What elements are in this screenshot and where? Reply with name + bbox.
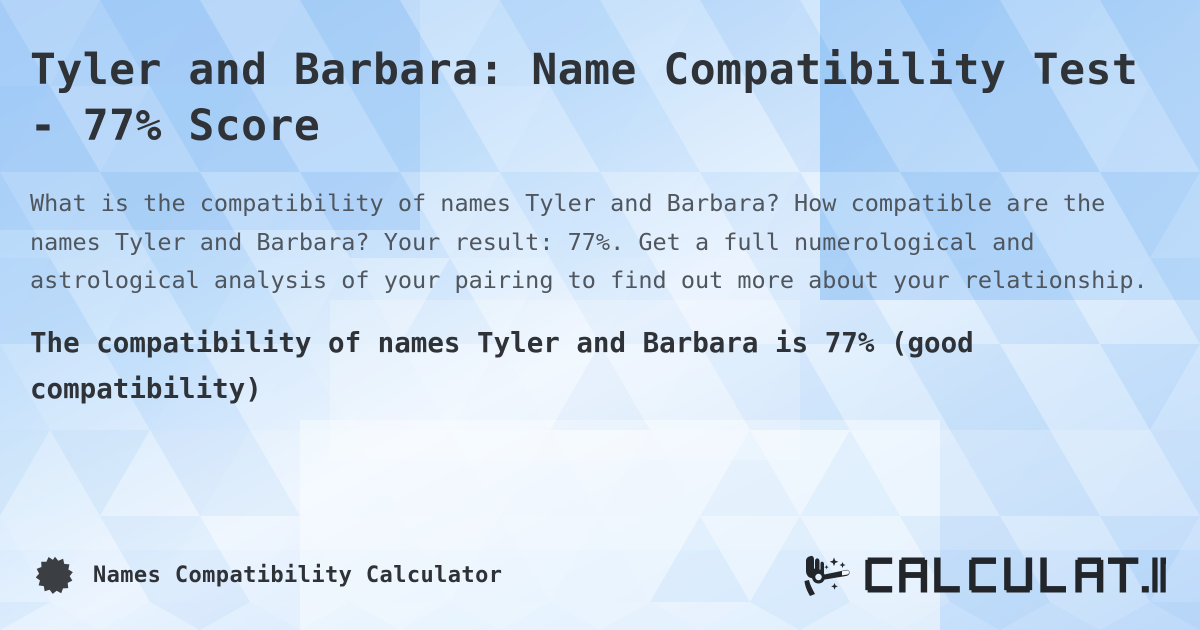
magic-wand-hand-icon [803,553,857,597]
starburst-icon [36,556,74,594]
lcd-wordmark-glyphs [863,554,1166,596]
card-content: Tyler and Barbara: Name Compatibility Te… [0,0,1200,630]
footer-bar: Names Compatibility Calculator [0,546,1200,604]
page-title: Tyler and Barbara: Name Compatibility Te… [30,42,1160,154]
og-image-card: Tyler and Barbara: Name Compatibility Te… [0,0,1200,630]
footer-brand-label: Names Compatibility Calculator [93,563,502,588]
site-logo[interactable]: CALCULAT.IO [803,553,1166,597]
site-logo-wordmark: CALCULAT.IO [863,554,1166,596]
footer-brand[interactable]: Names Compatibility Calculator [36,556,502,594]
result-statement: The compatibility of names Tyler and Bar… [30,320,1170,412]
intro-paragraph: What is the compatibility of names Tyler… [30,184,1170,300]
